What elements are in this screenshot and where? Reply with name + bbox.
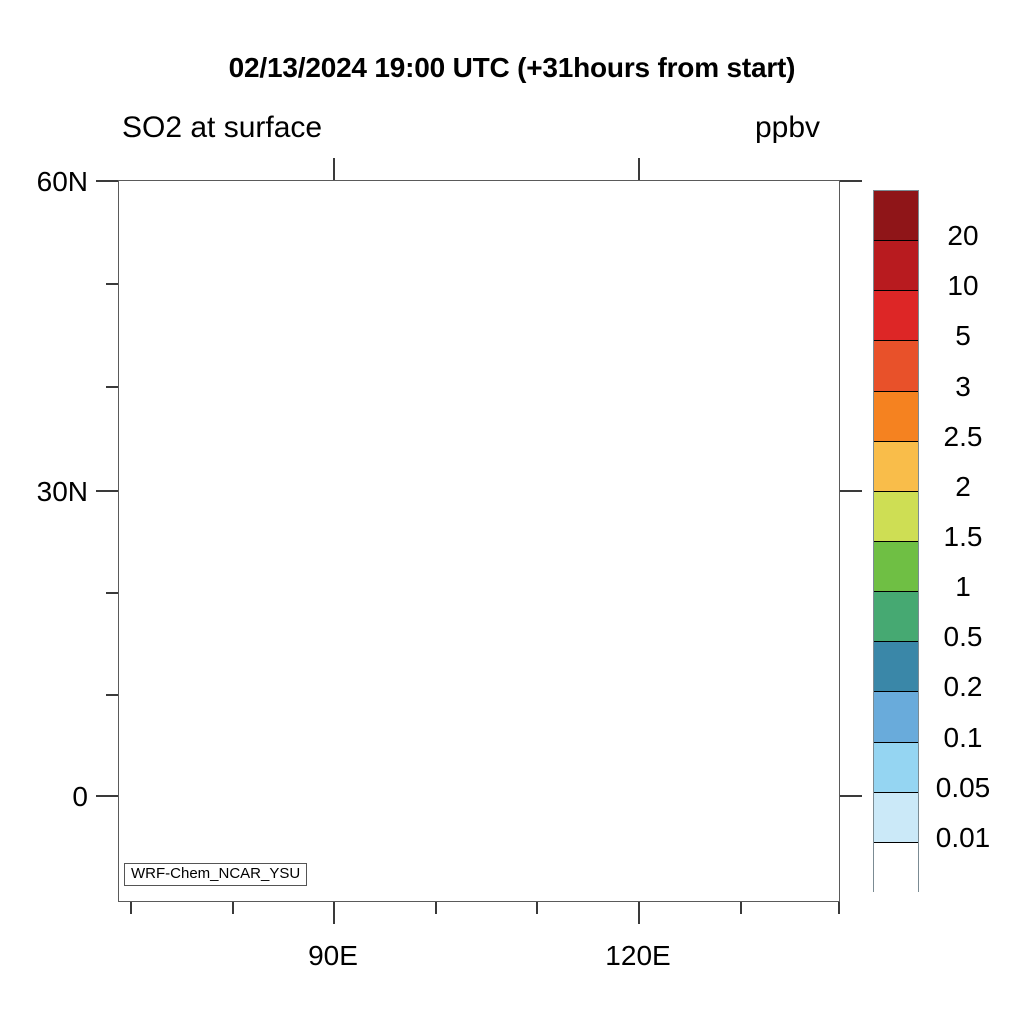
colorbar-tick-label: 0.01 [920, 822, 1006, 854]
figure-root: 02/13/2024 19:00 UTC (+31hours from star… [0, 0, 1024, 1024]
colorbar-labels: 2010532.521.510.50.20.10.050.01 [920, 190, 1024, 892]
y-tick-right [840, 795, 862, 797]
colorbar-band [874, 642, 918, 692]
colorbar-band [874, 793, 918, 843]
colorbar-tick-label: 0.5 [920, 621, 1006, 653]
colorbar-tick-label: 0.1 [920, 722, 1006, 754]
x-tick-top [333, 158, 335, 180]
y-tick-minor [106, 283, 118, 285]
map-panel[interactable]: WRF-Chem_NCAR_YSU [118, 180, 840, 902]
y-tick-right [840, 180, 862, 182]
colorbar-tick-label: 5 [920, 320, 1006, 352]
y-tick-right [840, 490, 862, 492]
colorbar-band [874, 341, 918, 391]
y-tick-0 [96, 795, 118, 797]
colorbar-band [874, 542, 918, 592]
y-tick-60n [96, 180, 118, 182]
x-tick-minor [838, 902, 840, 914]
colorbar-band [874, 592, 918, 642]
x-tick-120e [638, 902, 640, 924]
colorbar-band [874, 392, 918, 442]
colorbar-tick-label: 1 [920, 571, 1006, 603]
colorbar-tick-label: 0.05 [920, 772, 1006, 804]
x-axis-label-90e: 90E [263, 940, 403, 972]
colorbar-tick-label: 2 [920, 471, 1006, 503]
y-tick-minor [106, 694, 118, 696]
colorbar-tick-label: 10 [920, 270, 1006, 302]
y-tick-minor [106, 592, 118, 594]
y-tick-30n [96, 490, 118, 492]
x-tick-minor [232, 902, 234, 914]
units-label: ppbv [755, 111, 820, 145]
colorbar-band [874, 191, 918, 241]
colorbar-band [874, 743, 918, 793]
x-tick-top [638, 158, 640, 180]
x-tick-minor [536, 902, 538, 914]
x-tick-minor [130, 902, 132, 914]
y-axis-label-0: 0 [0, 781, 88, 813]
map-frame [118, 180, 840, 902]
colorbar-tick-label: 2.5 [920, 421, 1006, 453]
x-axis-label-120e: 120E [568, 940, 708, 972]
colorbar-band [874, 692, 918, 742]
colorbar-band [874, 442, 918, 492]
model-watermark: WRF-Chem_NCAR_YSU [124, 863, 307, 886]
field-subtitle: SO2 at surface [122, 111, 322, 145]
x-tick-90e [333, 902, 335, 924]
colorbar[interactable] [873, 190, 919, 892]
colorbar-tick-label: 0.2 [920, 671, 1006, 703]
colorbar-tick-label: 3 [920, 371, 1006, 403]
colorbar-tick-label: 1.5 [920, 521, 1006, 553]
colorbar-band [874, 843, 918, 893]
x-tick-minor [740, 902, 742, 914]
y-tick-minor [106, 386, 118, 388]
colorbar-band [874, 492, 918, 542]
y-axis-label-60n: 60N [0, 166, 88, 198]
colorbar-band [874, 291, 918, 341]
page-title: 02/13/2024 19:00 UTC (+31hours from star… [0, 52, 1024, 84]
x-tick-minor [435, 902, 437, 914]
colorbar-band [874, 241, 918, 291]
colorbar-tick-label: 20 [920, 220, 1006, 252]
y-axis-label-30n: 30N [0, 476, 88, 508]
